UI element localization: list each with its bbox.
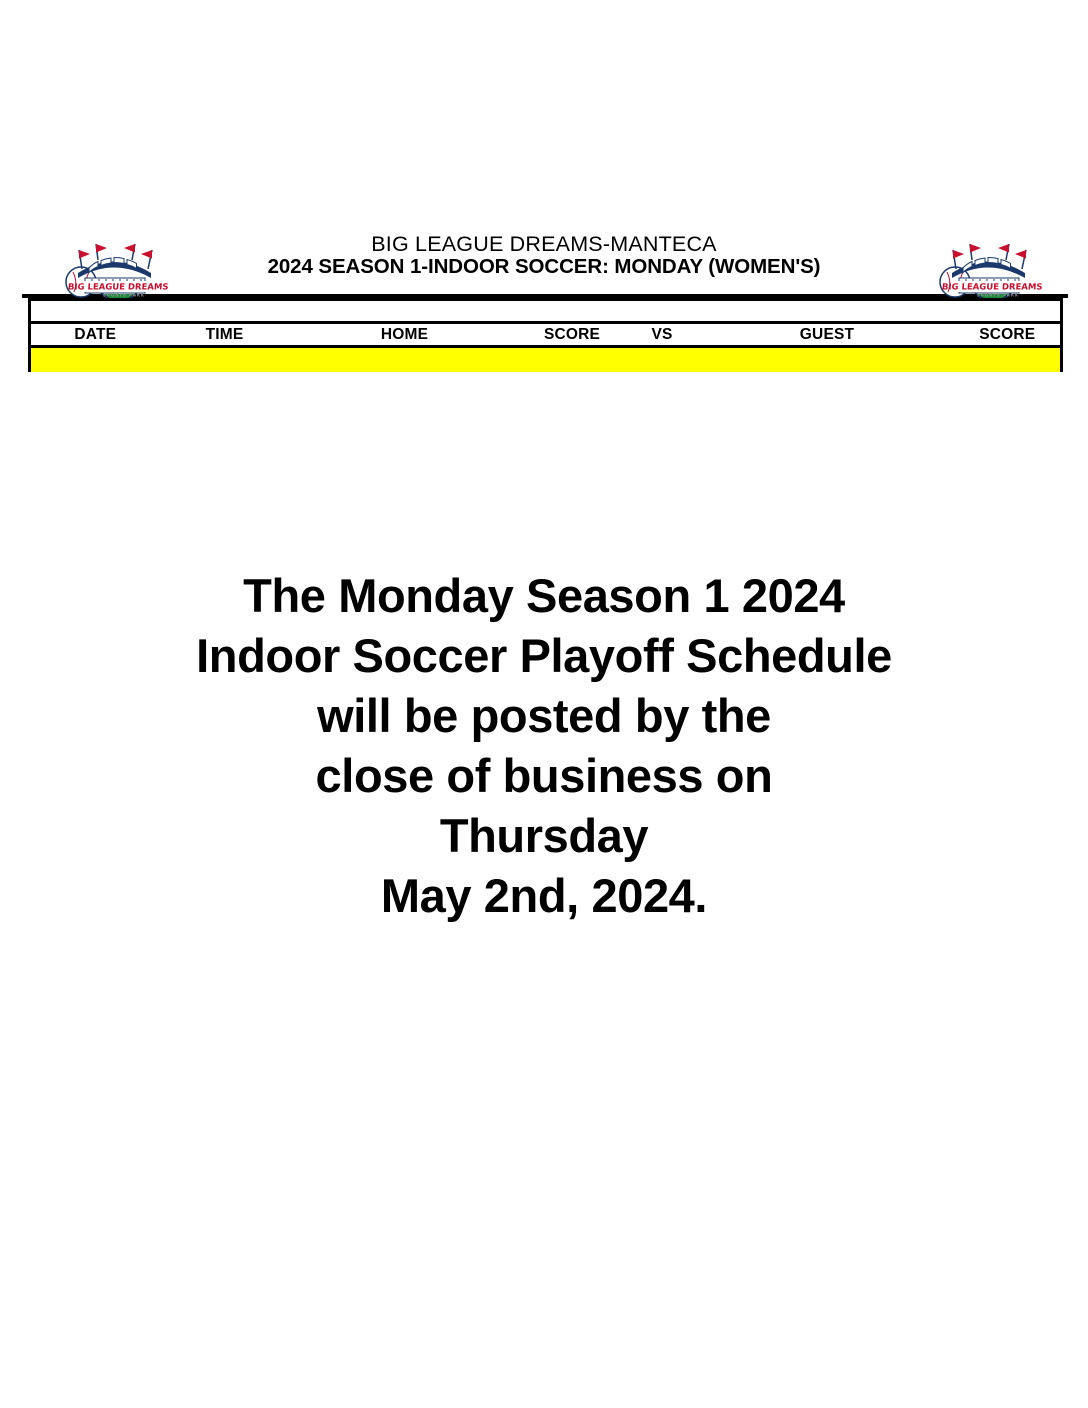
svg-text:SPORTS PARK: SPORTS PARK [103,293,145,298]
cell-time [160,347,290,373]
notice-line-6: May 2nd, 2024. [0,866,1088,926]
notice-line-1: The Monday Season 1 2024 [0,566,1088,626]
notice-line-2: Indoor Soccer Playoff Schedule [0,626,1088,686]
table-row [30,347,1062,373]
schedule-table: DATE TIME HOME SCORE VS GUEST SCORE [28,298,1063,372]
svg-text:BIG LEAGUE DREAMS: BIG LEAGUE DREAMS [68,283,169,293]
logo-icon: BIG LEAGUE DREAMS SPORTS PARK [58,240,170,306]
logo-icon: BIG LEAGUE DREAMS SPORTS PARK [932,240,1044,306]
column-header-home: HOME [290,323,520,347]
table-top-band-cell [30,300,1062,323]
playoff-notice: The Monday Season 1 2024 Indoor Soccer P… [0,566,1088,926]
svg-text:BIG LEAGUE DREAMS: BIG LEAGUE DREAMS [942,283,1043,293]
big-league-dreams-logo-left: BIG LEAGUE DREAMS SPORTS PARK [58,240,170,306]
table-header-row: DATE TIME HOME SCORE VS GUEST SCORE [30,323,1062,347]
cell-date [30,347,160,373]
notice-line-5: Thursday [0,806,1088,866]
column-header-time: TIME [160,323,290,347]
cell-home [290,347,520,373]
column-header-date: DATE [30,323,160,347]
cell-vs [625,347,700,373]
table-top-band [30,300,1062,323]
schedule-page: BIG LEAGUE DREAMS-MANTECA 2024 SEASON 1-… [0,0,1088,1408]
column-header-vs: VS [625,323,700,347]
column-header-guest-score: SCORE [955,323,1062,347]
big-league-dreams-logo-right: BIG LEAGUE DREAMS SPORTS PARK [932,240,1044,306]
column-header-guest: GUEST [700,323,955,347]
cell-guest [700,347,955,373]
svg-text:SPORTS PARK: SPORTS PARK [977,293,1019,298]
notice-line-4: close of business on [0,746,1088,806]
column-header-home-score: SCORE [520,323,625,347]
cell-guest-score [955,347,1062,373]
cell-home-score [520,347,625,373]
notice-line-3: will be posted by the [0,686,1088,746]
